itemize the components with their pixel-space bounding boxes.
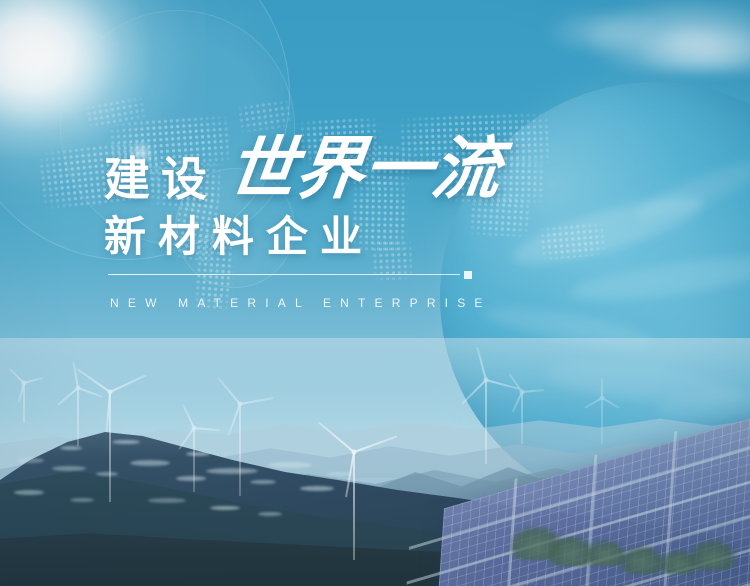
vignette-overlay [0,0,750,586]
hero-banner: 建设 世界一流 新材料企业 NEW MATERIAL ENTERPRISE [0,0,750,586]
